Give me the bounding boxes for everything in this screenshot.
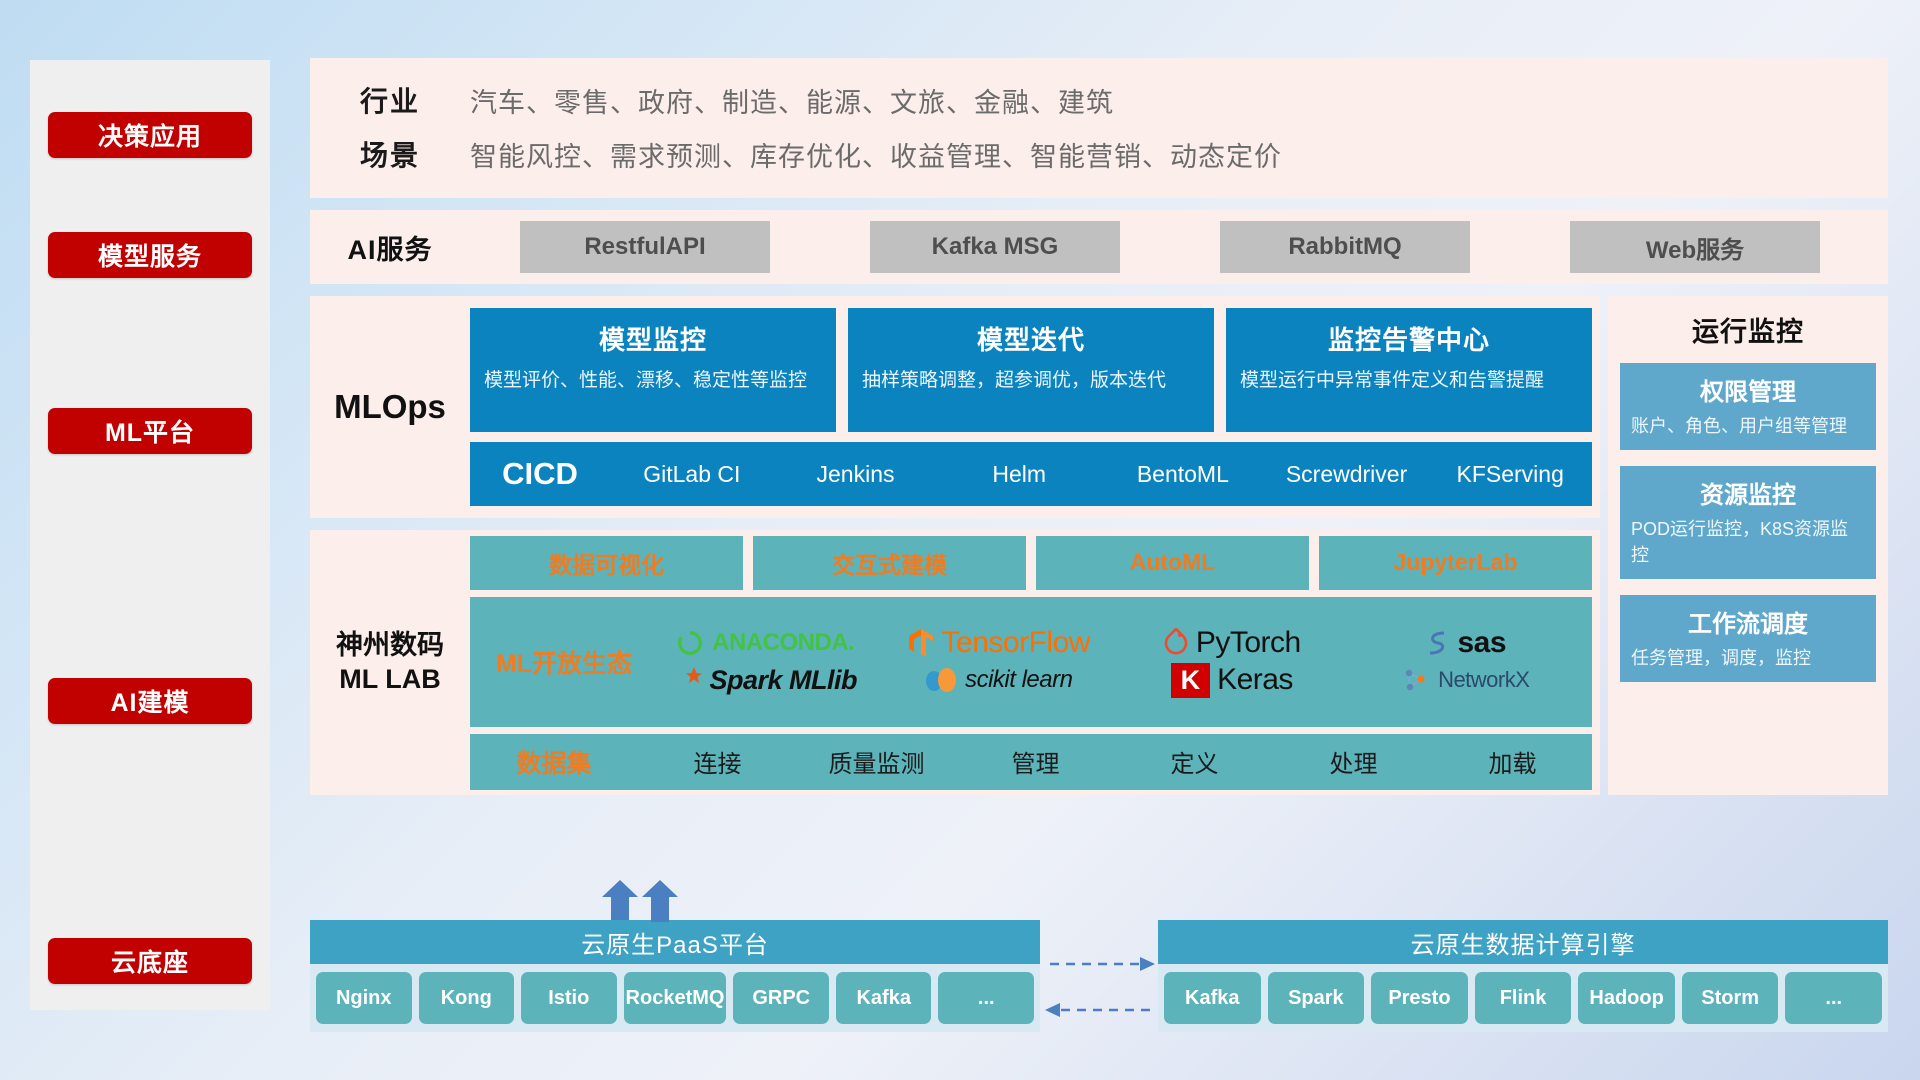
keras-mark-icon: K (1171, 663, 1211, 698)
ml-lab-tool-jupyterlab[interactable]: JupyterLab (1319, 536, 1592, 590)
mlops-card-desc: 模型评价、性能、漂移、稳定性等监控 (484, 367, 822, 395)
rail-item-decision-apps[interactable]: 决策应用 (48, 112, 252, 158)
cloud-chip-flink[interactable]: Flink (1475, 972, 1572, 1024)
cloud-chip-presto[interactable]: Presto (1371, 972, 1468, 1024)
cicd-item-jenkins[interactable]: Jenkins (774, 463, 938, 486)
dataset-item-manage[interactable]: 管理 (956, 744, 1115, 779)
cloud-chip-more[interactable]: ... (938, 972, 1034, 1024)
rail-item-model-service[interactable]: 模型服务 (48, 232, 252, 278)
scenario-key: 场景 (310, 134, 470, 174)
ai-service-chip-web-service[interactable]: Web服务 (1570, 221, 1820, 273)
sas-mark-icon (1424, 629, 1450, 657)
ai-service-chip-restfulapi[interactable]: RestfulAPI (520, 221, 770, 273)
mlops-card-desc: 模型运行中异常事件定义和告警提醒 (1240, 367, 1578, 395)
ml-lab-tool-automl[interactable]: AutoML (1036, 536, 1309, 590)
cicd-item-bentoml[interactable]: BentoML (1101, 463, 1265, 486)
cloud-chip-grpc[interactable]: GRPC (733, 972, 829, 1024)
cloud-chip-rocketmq[interactable]: RocketMQ (624, 972, 727, 1024)
keras-logo-text: Keras (1217, 663, 1293, 697)
ml-lab-band: 神州数码 ML LAB 数据可视化 交互式建模 AutoML JupyterLa… (310, 530, 1600, 795)
up-arrow-icon-paas (600, 880, 640, 922)
mlops-band: MLOps 模型监控 模型评价、性能、漂移、稳定性等监控 模型迭代 抽样策略调整… (310, 296, 1600, 518)
rail-item-label: ML平台 (105, 413, 195, 449)
dataset-item-load[interactable]: 加载 (1433, 744, 1592, 779)
pytorch-mark-icon (1163, 628, 1189, 658)
monitoring-card-desc: 任务管理，调度，监控 (1631, 645, 1865, 671)
rail-item-label: 决策应用 (98, 117, 202, 153)
mlops-card-desc: 抽样策略调整，超参调优，版本迭代 (862, 367, 1200, 395)
cloud-data-engine-chips: Kafka Spark Presto Flink Hadoop Storm ..… (1158, 964, 1888, 1032)
monitoring-band: 运行监控 权限管理 账户、角色、用户组等管理 资源监控 POD运行监控，K8S资… (1608, 296, 1888, 795)
monitoring-title: 运行监控 (1620, 310, 1876, 349)
industry-value: 汽车、零售、政府、制造、能源、文旅、金融、建筑 (470, 81, 1114, 120)
application-row-scenario: 场景 智能风控、需求预测、库存优化、收益管理、智能营销、动态定价 (310, 134, 1888, 174)
ml-lab-label-line1: 神州数码 (310, 629, 470, 663)
scenario-value: 智能风控、需求预测、库存优化、收益管理、智能营销、动态定价 (470, 135, 1282, 174)
keras-logo: K Keras (1171, 663, 1293, 698)
industry-key: 行业 (310, 80, 470, 120)
scikit-learn-logo: scikit learn (924, 665, 1072, 695)
ai-services-label: AI服务 (310, 228, 470, 267)
tensorflow-logo-text: TensorFlow (942, 626, 1090, 660)
ml-lab-tool-data-visualization[interactable]: 数据可视化 (470, 536, 743, 590)
pytorch-logo: PyTorch (1163, 626, 1301, 660)
cloud-paas-header: 云原生PaaS平台 (310, 920, 1040, 964)
monitoring-card-resource[interactable]: 资源监控 POD运行监控，K8S资源监控 (1620, 466, 1876, 579)
monitoring-column: 运行监控 权限管理 账户、角色、用户组等管理 资源监控 POD运行监控，K8S资… (1608, 296, 1888, 795)
mlops-card-model-iteration[interactable]: 模型迭代 抽样策略调整，超参调优，版本迭代 (848, 308, 1214, 432)
rail-item-ai-modeling[interactable]: AI建模 (48, 678, 252, 724)
ai-services-band: AI服务 RestfulAPI Kafka MSG RabbitMQ Web服务 (310, 210, 1888, 284)
cloud-paas-chips: Nginx Kong Istio RocketMQ GRPC Kafka ... (310, 964, 1040, 1032)
ml-lab-label: 神州数码 ML LAB (310, 629, 470, 697)
pytorch-logo-text: PyTorch (1196, 626, 1301, 660)
monitoring-card-desc: POD运行监控，K8S资源监控 (1631, 516, 1865, 568)
dataset-label: 数据集 (470, 744, 638, 780)
applications-band: 行业 汽车、零售、政府、制造、能源、文旅、金融、建筑 场景 智能风控、需求预测、… (310, 58, 1888, 198)
cloud-chip-kafka-data[interactable]: Kafka (1164, 972, 1261, 1024)
scikit-learn-mark-icon (924, 665, 958, 695)
cloud-chip-nginx[interactable]: Nginx (316, 972, 412, 1024)
cicd-item-kfserving[interactable]: KFServing (1428, 463, 1592, 486)
cloud-chip-kafka[interactable]: Kafka (836, 972, 932, 1024)
rail-item-ml-platform[interactable]: ML平台 (48, 408, 252, 454)
cicd-title: CICD (470, 456, 610, 492)
anaconda-logo-text: ANACONDA. (712, 629, 854, 657)
platform-and-monitoring: MLOps 模型监控 模型评价、性能、漂移、稳定性等监控 模型迭代 抽样策略调整… (310, 296, 1888, 795)
cicd-item-helm[interactable]: Helm (937, 463, 1101, 486)
monitoring-card-desc: 账户、角色、用户组等管理 (1631, 413, 1865, 439)
mlops-card-title: 监控告警中心 (1240, 320, 1578, 357)
ml-lab-label-line2: ML LAB (310, 663, 470, 697)
cicd-item-screwdriver[interactable]: Screwdriver (1265, 463, 1429, 486)
cloud-chip-more-data[interactable]: ... (1785, 972, 1882, 1024)
cloud-data-engine-group: 云原生数据计算引擎 Kafka Spark Presto Flink Hadoo… (1158, 920, 1888, 1032)
spark-mllib-logo-text: Spark MLlib (709, 665, 857, 696)
dataset-item-process[interactable]: 处理 (1274, 744, 1433, 779)
dataset-row: 数据集 连接 质量监测 管理 定义 处理 加载 (470, 734, 1592, 790)
bidirectional-link-arrows (1040, 948, 1160, 1028)
tensorflow-logo: TensorFlow (907, 626, 1090, 660)
dataset-item-define[interactable]: 定义 (1115, 744, 1274, 779)
dataset-item-connect[interactable]: 连接 (638, 744, 797, 779)
cicd-item-gitlab-ci[interactable]: GitLab CI (610, 463, 774, 486)
cloud-chip-spark[interactable]: Spark (1268, 972, 1365, 1024)
up-arrow-icon-data-engine (640, 880, 680, 922)
monitoring-card-title: 权限管理 (1631, 372, 1865, 407)
mlops-card-title: 模型迭代 (862, 320, 1200, 357)
application-row-industry: 行业 汽车、零售、政府、制造、能源、文旅、金融、建筑 (310, 80, 1888, 120)
cloud-chip-kong[interactable]: Kong (419, 972, 515, 1024)
mlops-card-title: 模型监控 (484, 320, 822, 357)
rail-item-label: 云底座 (111, 943, 189, 979)
monitoring-card-title: 工作流调度 (1631, 604, 1865, 639)
cloud-paas-group: 云原生PaaS平台 Nginx Kong Istio RocketMQ GRPC… (310, 920, 1040, 1032)
ml-ecosystem-row: ML开放生态 ANACONDA. (470, 597, 1592, 727)
ml-lab-tool-interactive-modeling[interactable]: 交互式建模 (753, 536, 1026, 590)
scikit-learn-logo-text: scikit learn (965, 666, 1072, 694)
ai-service-chip-rabbitmq[interactable]: RabbitMQ (1220, 221, 1470, 273)
networkx-mark-icon (1401, 665, 1431, 695)
mlops-card-model-monitoring[interactable]: 模型监控 模型评价、性能、漂移、稳定性等监控 (470, 308, 836, 432)
cloud-base-section: 云原生PaaS平台 Nginx Kong Istio RocketMQ GRPC… (310, 880, 1888, 1045)
ml-ecosystem-logos: ANACONDA. TensorFlow (648, 626, 1582, 698)
sas-logo-text: sas (1457, 626, 1506, 660)
platform-column: MLOps 模型监控 模型评价、性能、漂移、稳定性等监控 模型迭代 抽样策略调整… (310, 296, 1600, 795)
rail-item-label: 模型服务 (98, 237, 202, 273)
dataset-item-quality-monitoring[interactable]: 质量监测 (797, 744, 956, 779)
ml-lab-body: 数据可视化 交互式建模 AutoML JupyterLab ML开放生态 (470, 536, 1600, 790)
left-rail: 决策应用 模型服务 ML平台 AI建模 云底座 (30, 60, 270, 1010)
ml-lab-tool-list: 数据可视化 交互式建模 AutoML JupyterLab (470, 536, 1592, 590)
main-diagram: 行业 汽车、零售、政府、制造、能源、文旅、金融、建筑 场景 智能风控、需求预测、… (310, 58, 1888, 795)
sas-logo: sas (1424, 626, 1506, 660)
networkx-logo: NetworkX (1401, 665, 1529, 695)
networkx-logo-text: NetworkX (1438, 667, 1529, 693)
anaconda-logo: ANACONDA. (675, 628, 854, 658)
mlops-card-alert-center[interactable]: 监控告警中心 模型运行中异常事件定义和告警提醒 (1226, 308, 1592, 432)
rail-item-cloud-base[interactable]: 云底座 (48, 938, 252, 984)
mlops-body: 模型监控 模型评价、性能、漂移、稳定性等监控 模型迭代 抽样策略调整，超参调优，… (470, 308, 1600, 506)
mlops-card-list: 模型监控 模型评价、性能、漂移、稳定性等监控 模型迭代 抽样策略调整，超参调优，… (470, 308, 1592, 432)
anaconda-mark-icon (675, 628, 705, 658)
cloud-chip-istio[interactable]: Istio (521, 972, 617, 1024)
spark-star-icon (672, 666, 702, 694)
cloud-data-engine-header: 云原生数据计算引擎 (1158, 920, 1888, 964)
cloud-chip-storm[interactable]: Storm (1682, 972, 1779, 1024)
ai-service-chip-kafka-msg[interactable]: Kafka MSG (870, 221, 1120, 273)
rail-item-label: AI建模 (110, 683, 189, 719)
tensorflow-mark-icon (907, 627, 935, 659)
mlops-label: MLOps (310, 388, 470, 426)
monitoring-card-title: 资源监控 (1631, 475, 1865, 510)
monitoring-card-permission[interactable]: 权限管理 账户、角色、用户组等管理 (1620, 363, 1876, 450)
cloud-chip-hadoop[interactable]: Hadoop (1578, 972, 1675, 1024)
ml-ecosystem-label: ML开放生态 (480, 644, 648, 680)
spark-mllib-logo: Spark MLlib (672, 665, 857, 696)
ai-services-list: RestfulAPI Kafka MSG RabbitMQ Web服务 (470, 221, 1888, 273)
monitoring-card-workflow[interactable]: 工作流调度 任务管理，调度，监控 (1620, 595, 1876, 682)
cicd-bar: CICD GitLab CI Jenkins Helm BentoML Scre… (470, 442, 1592, 506)
